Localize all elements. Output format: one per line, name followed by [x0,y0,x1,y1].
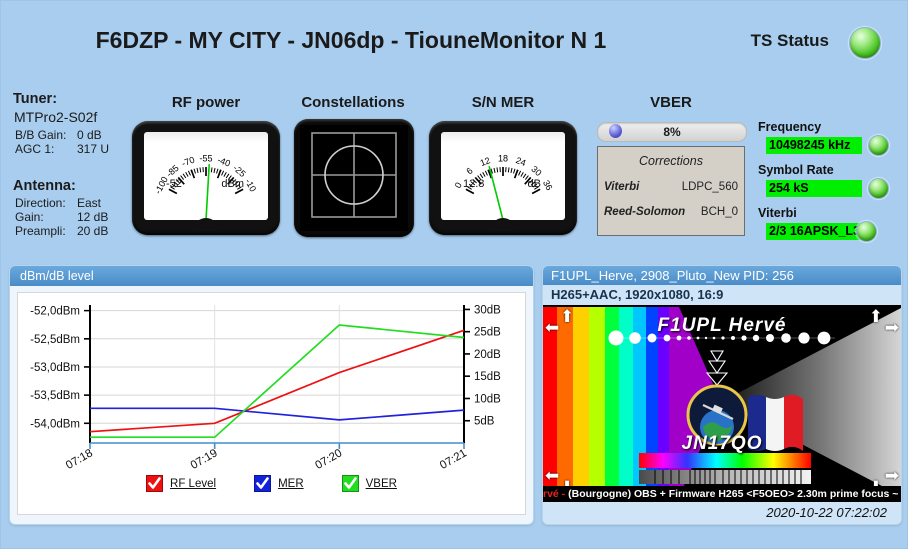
tuner-row-agc: AGC 1: 317 U [15,142,125,156]
legend-item-vber[interactable]: VBER [342,475,397,492]
vber-label: VBER [597,94,745,111]
svg-text:-53,0dBm: -53,0dBm [30,362,80,374]
corrections-reedsolomon-value: BCH_0 [701,206,738,218]
chart-area: -52,0dBm-52,5dBm-53,0dBm-53,5dBm-54,0dBm… [18,293,525,514]
svg-text:-52,0dBm: -52,0dBm [30,306,80,318]
video-ticker-text: (Bourgogne) OBS + Firmware H265 <F5OEO> … [568,488,901,500]
symbol-rate-value: 254 kS [766,180,862,197]
rf-power-scale: -100-85-70-55-40-25-10 [144,132,268,220]
antenna-preampli-value: 20 dB [77,224,108,238]
svg-text:-25: -25 [231,163,247,179]
corrections-viterbi-label: Viterbi [604,181,639,193]
svg-text:20dB: 20dB [474,349,501,361]
chart-panel-title: dBm/dB level [10,266,533,286]
svg-text:07:20: 07:20 [313,447,344,472]
svg-text:30: 30 [529,164,543,178]
legend-checkbox-vber[interactable] [342,475,359,492]
video-screen[interactable]: F1UPL Hervé JN17QO ⬅ ⬆ ⬆ ➡ ⬅ ⬇ ⬇ ➡ rvé -… [543,305,901,502]
tiounemonitor-window: F6DZP - MY CITY - JN06dp - TiouneMonitor… [0,0,908,549]
legend-checkbox-rf-level[interactable] [146,475,163,492]
corrections-row-viterbi: Viterbi LDPC_560 [598,181,744,193]
tuner-info-block: Tuner: MTPro2-S02f B/B Gain: 0 dB AGC 1:… [13,91,125,238]
video-overlay-title: F1UPL Hervé [543,315,901,337]
rf-power-value: -52 [166,178,182,190]
viterbi-led [856,221,877,242]
svg-text:15dB: 15dB [474,371,501,383]
snmer-scale: 061218243036 [441,132,565,220]
frequency-value: 10498245 kHz [766,137,862,154]
snmer-needle [489,166,503,220]
symbol-rate-status-group: Symbol Rate 254 kS [758,163,889,199]
svg-text:25dB: 25dB [474,327,501,339]
antenna-row-direction: Direction: East [15,196,125,210]
chart-panel-body: -52,0dBm-52,5dBm-53,0dBm-53,5dBm-54,0dBm… [17,292,526,515]
legend-label-mer: MER [278,478,304,490]
svg-text:07:19: 07:19 [189,447,220,472]
ts-status-led [849,27,881,59]
constellation-graphic [300,125,408,231]
constellations-label: Constellations [289,94,417,111]
legend-checkbox-mer[interactable] [254,475,271,492]
vber-progress-bar[interactable]: 8% [597,122,747,142]
antenna-gain-value: 12 dB [77,210,108,224]
right-arrow-icon: ➡ [885,319,899,336]
constellation-canvas [300,125,408,231]
viterbi-status-group: Viterbi 2/3 16APSK_L3 [758,206,877,242]
symbol-rate-label: Symbol Rate [758,163,889,177]
antenna-direction-value: East [77,196,101,210]
video-timestamp: 2020-10-22 07:22:02 [543,502,901,525]
snmer-label: S/N MER [429,94,577,111]
tuner-bbgain-key: B/B Gain: [15,128,77,142]
svg-text:-40: -40 [216,155,232,169]
svg-text:5dB: 5dB [474,416,495,428]
legend-item-rf-level[interactable]: RF Level [146,475,216,492]
tuner-agc-value: 317 U [77,142,109,156]
tuner-heading: Tuner: [13,91,125,107]
video-overlay-locator: JN17QO [543,433,901,455]
viterbi-label: Viterbi [758,206,877,220]
viterbi-row: 2/3 16APSK_L3 [758,221,877,242]
frequency-row: 10498245 kHz [758,135,889,156]
svg-text:30dB: 30dB [474,304,501,316]
video-ticker-lead: rvé - [543,488,565,500]
vber-percent-label: 8% [598,125,746,139]
symbol-rate-row: 254 kS [758,178,889,199]
corrections-title: Corrections [598,154,744,168]
svg-text:-10: -10 [243,177,258,193]
frequency-led [868,135,889,156]
svg-text:-53,5dBm: -53,5dBm [30,390,80,402]
rf-power-meter: -100-85-70-55-40-25-10 -52 dBm [132,121,280,235]
video-panel: F1UPL_Herve, 2908_Pluto_New PID: 256 H26… [542,265,902,525]
snmer-value: 12.8 [463,178,484,190]
svg-text:07:21: 07:21 [438,447,469,472]
tuner-agc-key: AGC 1: [15,142,77,156]
svg-text:-54,0dBm: -54,0dBm [30,418,80,430]
snmer-unit: dB [528,178,541,190]
line-chart: -52,0dBm-52,5dBm-53,0dBm-53,5dBm-54,0dBm… [18,293,527,493]
chart-panel: dBm/dB level -52,0dBm-52,5dBm-53,0dBm-53… [9,265,534,525]
gray-bar [639,470,811,484]
bottom-left-arrow-icon: ⬅ [545,467,559,484]
rf-power-label: RF power [132,94,280,111]
svg-text:-85: -85 [164,163,180,179]
video-ticker: rvé - (Bourgogne) OBS + Firmware H265 <F… [543,486,901,502]
svg-text:24: 24 [514,155,527,168]
tuner-bbgain-value: 0 dB [77,128,102,142]
svg-text:36: 36 [541,178,555,192]
antenna-row-preampli: Preampli: 20 dB [15,224,125,238]
header: F6DZP - MY CITY - JN06dp - TiouneMonitor… [1,1,908,81]
legend-label-rf-level: RF Level [170,478,216,490]
video-panel-subheader: H265+AAC, 1920x1080, 16:9 [543,285,901,305]
antenna-gain-key: Gain: [15,210,77,224]
antenna-preampli-key: Preampli: [15,224,77,238]
antenna-heading: Antenna: [13,178,125,194]
color-bar [639,453,811,468]
legend-item-mer[interactable]: MER [254,475,304,492]
legend-label-vber: VBER [366,478,397,490]
up-left-arrow-icon: ⬆ [560,308,574,325]
constellation-display [294,119,414,237]
rf-power-unit: dBm [221,178,244,190]
snmer-meter: 061218243036 12.8 dB [429,121,577,235]
tuner-model: MTPro2-S02f [14,109,125,125]
rf-power-meter-face: -100-85-70-55-40-25-10 -52 dBm [144,132,268,220]
page-title: F6DZP - MY CITY - JN06dp - TiouneMonitor… [1,27,701,54]
tuner-row-bbgain: B/B Gain: 0 dB [15,128,125,142]
up-right-arrow-icon: ⬆ [869,308,883,325]
svg-text:-52,5dBm: -52,5dBm [30,334,80,346]
svg-text:-70: -70 [180,155,196,169]
svg-text:6: 6 [464,166,474,177]
frequency-label: Frequency [758,120,889,134]
ts-status-label: TS Status [751,31,829,51]
corrections-box: Corrections Viterbi LDPC_560 Reed-Solomo… [597,146,745,236]
antenna-row-gain: Gain: 12 dB [15,210,125,224]
symbol-rate-led [868,178,889,199]
snmer-meter-face: 061218243036 12.8 dB [441,132,565,220]
corrections-row-reedsolomon: Reed-Solomon BCH_0 [598,206,744,218]
svg-text:18: 18 [498,153,508,163]
frequency-status-group: Frequency 10498245 kHz [758,120,889,156]
svg-text:10dB: 10dB [474,393,501,405]
corrections-viterbi-value: LDPC_560 [682,181,738,193]
bottom-right-arrow-icon: ➡ [885,467,899,484]
chart-legend: RF Level MER VBER [18,475,525,492]
viterbi-value: 2/3 16APSK_L3 [766,223,862,240]
corrections-reedsolomon-label: Reed-Solomon [604,206,685,218]
svg-text:-55: -55 [199,153,212,163]
antenna-direction-key: Direction: [15,196,77,210]
video-panel-header: F1UPL_Herve, 2908_Pluto_New PID: 256 [543,266,901,285]
svg-text:07:18: 07:18 [64,447,95,472]
left-arrow-icon: ⬅ [545,319,559,336]
